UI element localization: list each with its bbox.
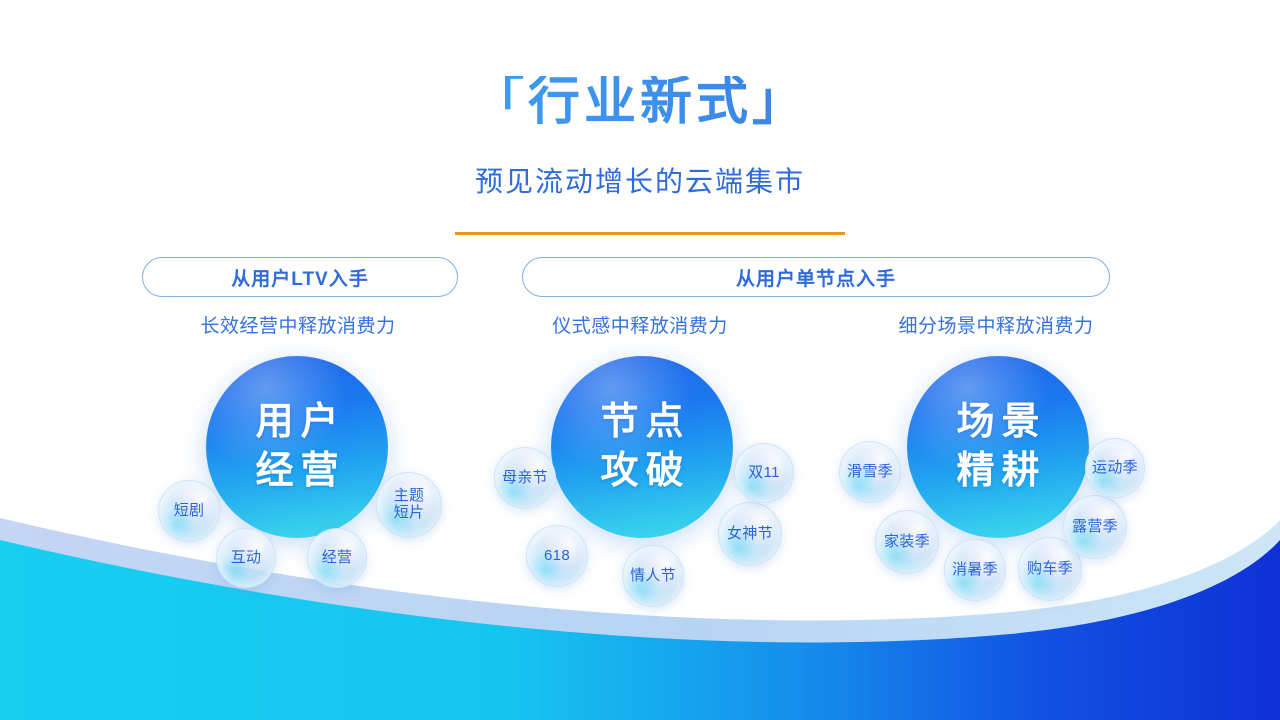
bubble-node-breakthrough-1[interactable]: 618 <box>526 525 588 587</box>
bubble-label: 消暑季 <box>952 562 998 579</box>
bubble-node-breakthrough-0[interactable]: 母亲节 <box>494 447 556 509</box>
sphere-line-2: 攻破 <box>593 447 690 496</box>
column-subtitle-long-term: 长效经营中释放消费力 <box>200 311 395 338</box>
bubble-user-operation-3[interactable]: 主题 短片 <box>376 472 442 538</box>
bubble-label: 双11 <box>748 465 779 482</box>
bubble-label: 短剧 <box>174 503 205 520</box>
bubble-node-breakthrough-4[interactable]: 双11 <box>734 443 794 503</box>
column-subtitle-ritual: 仪式感中释放消费力 <box>552 311 728 338</box>
page-title: 「行业新式」 <box>0 76 1280 131</box>
bubble-label: 经营 <box>322 550 353 567</box>
bubble-label: 家装季 <box>884 534 930 551</box>
bubble-user-operation-2[interactable]: 经营 <box>307 528 367 588</box>
orange-divider <box>455 232 845 235</box>
bubble-label: 互动 <box>231 550 262 567</box>
bubble-label: 女神节 <box>727 526 773 543</box>
pill-from-user-single-node[interactable]: 从用户单节点入手 <box>522 257 1110 297</box>
bubble-scenario-cultivation-4[interactable]: 露营季 <box>1063 495 1127 559</box>
column-subtitle-scenario: 细分场景中释放消费力 <box>898 311 1093 338</box>
bubble-label: 滑雪季 <box>847 464 893 481</box>
bubble-node-breakthrough-2[interactable]: 情人节 <box>622 545 684 607</box>
sphere-node-breakthrough[interactable]: 节点 攻破 <box>551 356 733 538</box>
bubble-user-operation-0[interactable]: 短剧 <box>158 480 220 542</box>
sphere-user-operation[interactable]: 用户 经营 <box>206 356 388 538</box>
bubble-scenario-cultivation-2[interactable]: 消暑季 <box>944 539 1006 601</box>
bubble-label: 露营季 <box>1072 519 1118 536</box>
bubble-label: 情人节 <box>630 568 676 585</box>
sphere-line-1: 节点 <box>593 398 690 447</box>
bubble-label: 主题 短片 <box>394 488 425 522</box>
bubble-label: 母亲节 <box>502 470 548 487</box>
bubble-user-operation-1[interactable]: 互动 <box>216 528 276 588</box>
sphere-line-2: 精耕 <box>949 447 1046 496</box>
bubble-node-breakthrough-3[interactable]: 女神节 <box>718 502 782 566</box>
bubble-label: 运动季 <box>1092 460 1138 477</box>
sphere-line-2: 经营 <box>248 447 345 496</box>
slide-canvas: 「行业新式」 预见流动增长的云端集市 从用户LTV入手 从用户单节点入手 长效经… <box>0 0 1280 720</box>
bubble-scenario-cultivation-1[interactable]: 家装季 <box>875 510 939 574</box>
bubble-label: 618 <box>544 548 570 565</box>
pill-from-user-ltv[interactable]: 从用户LTV入手 <box>142 257 458 297</box>
sphere-line-1: 场景 <box>949 398 1046 447</box>
page-subtitle: 预见流动增长的云端集市 <box>0 160 1280 200</box>
sphere-line-1: 用户 <box>248 398 345 447</box>
sphere-scenario-cultivation[interactable]: 场景 精耕 <box>907 356 1089 538</box>
bubble-label: 购车季 <box>1027 561 1073 578</box>
bubble-scenario-cultivation-0[interactable]: 滑雪季 <box>839 441 901 503</box>
bubble-scenario-cultivation-5[interactable]: 运动季 <box>1085 438 1145 498</box>
